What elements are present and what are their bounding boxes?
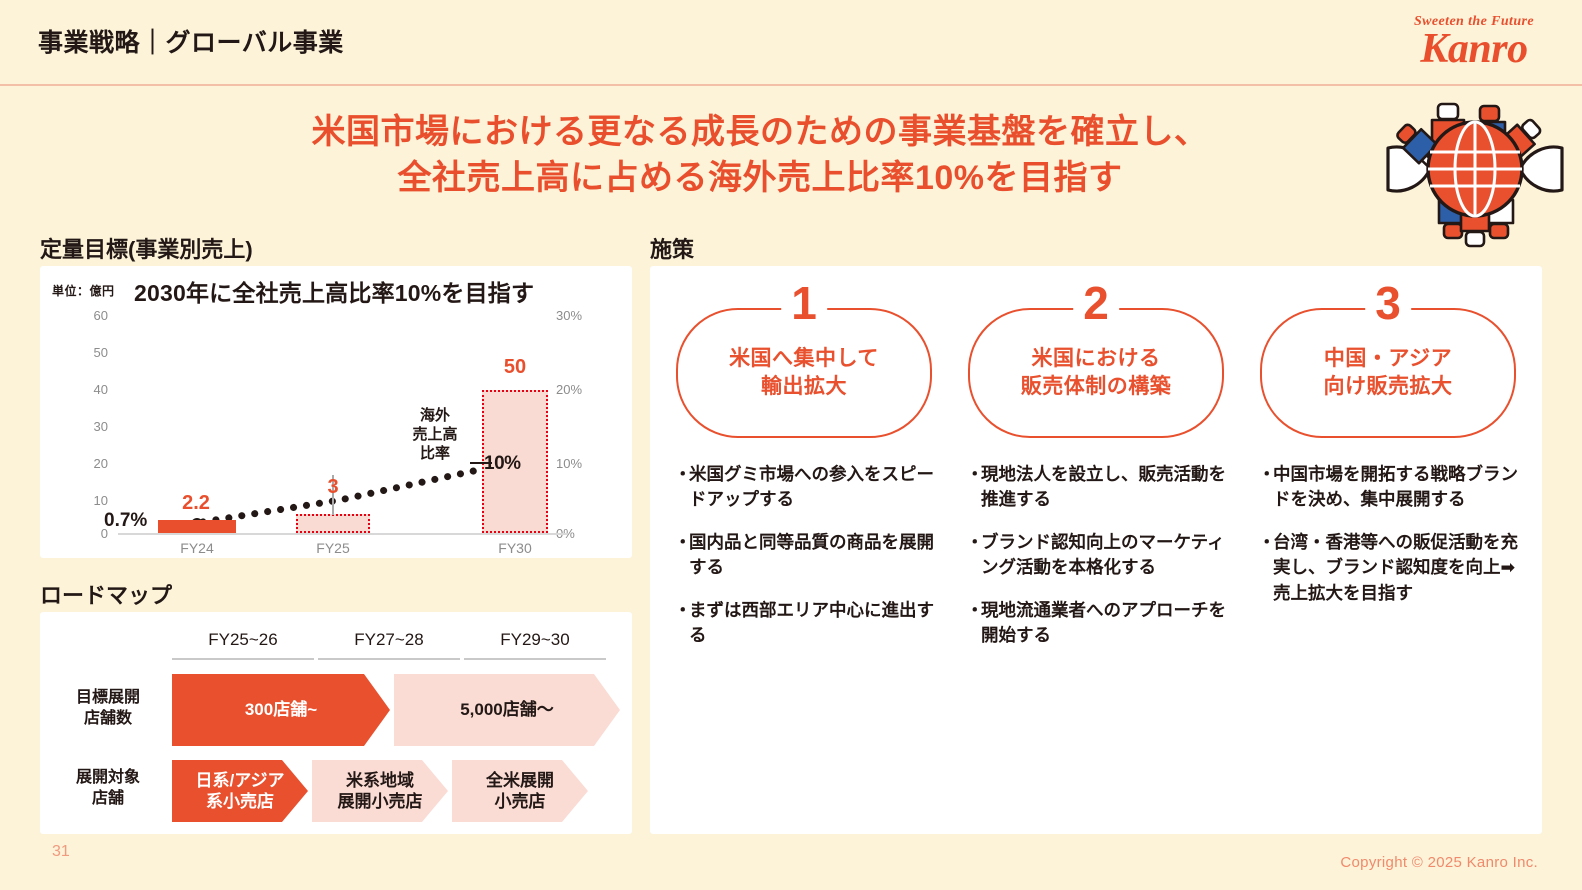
plan-bullet-text: 米国グミ市場への参入をスピードアップする (689, 462, 942, 513)
roadmap-cell-japan-asia-retail-line-1: 日系/アジア (195, 771, 284, 790)
plan-card: 1 米国へ集中して 輸出拡大 ・ 米国グミ市場への参入をスピードアップする ・ … (650, 266, 1542, 834)
headline-line-1: 米国市場における更なる成長のための事業基盤を確立し、 (200, 110, 1320, 156)
roadmap-cell-japan-asia-retail-line-2: 系小売店 (206, 792, 274, 811)
plan-bullet-text: ブランド認知向上のマーケティング活動を本格化する (981, 530, 1234, 581)
roadmap-phase-1: FY25~26 (168, 630, 318, 650)
plan-bullet-text: 中国市場を開拓する戦略ブランドを決め、集中展開する (1273, 462, 1526, 513)
roadmap-phase-3-underline (464, 658, 606, 660)
x-tick-fy25: FY25 (288, 540, 378, 556)
section-label-roadmap: ロードマップ (40, 578, 172, 610)
roadmap-cell-nationwide-retail-line-1: 全米展開 (486, 771, 554, 790)
roadmap-cell-nationwide-retail-line-2: 小売店 (495, 792, 546, 811)
chart-card: 単位：億円 2030年に全社売上高比率10%を目指す 60 50 40 30 2… (40, 266, 632, 558)
bullet-marker-icon: ・ (966, 598, 981, 649)
roadmap-cell-nationwide-retail: 全米展開 小売店 (452, 760, 588, 822)
logo-wordmark: Kanro (1414, 30, 1534, 70)
roadmap-row-label-stores: 目標展開 店舗数 (48, 688, 168, 730)
plan-bullet-text: 台湾・香港等への販促活動を充実し、ブランド認知度を向上➡売上拡大を目指す (1273, 530, 1526, 606)
bullet-marker-icon: ・ (966, 462, 981, 513)
roadmap-phase-2: FY27~28 (314, 630, 464, 650)
list-item: ・ 中国市場を開拓する戦略ブランドを決め、集中展開する (1258, 462, 1526, 513)
ratio-annotation-line-2: 売上高 (392, 426, 478, 445)
roadmap-cell-300-stores: 300店舗~ (172, 674, 390, 746)
section-label-kpi: 定量目標(事業別売上) (40, 232, 253, 264)
roadmap-cell-us-regional-retail: 米系地域 展開小売店 (312, 760, 448, 822)
plan-number-2: 2 (1073, 280, 1119, 326)
roadmap-phase-3: FY29~30 (460, 630, 610, 650)
copyright-notice: Copyright © 2025 Kanro Inc. (1340, 854, 1538, 871)
plan-title-1-line-2: 輸出拡大 (761, 375, 847, 398)
bullet-marker-icon: ・ (674, 530, 689, 581)
plan-number-1: 1 (781, 280, 827, 326)
x-tick-fy30: FY30 (470, 540, 560, 556)
plan-title-2-line-2: 販売体制の構築 (1021, 375, 1172, 398)
plan-title-3-line-2: 向け販売拡大 (1324, 375, 1453, 398)
bar-value-fy25: 3 (288, 476, 378, 499)
ratio-annotation-line-3: 比率 (392, 445, 478, 464)
bar-value-fy24: 2.2 (151, 492, 241, 515)
plan-column-2: 2 米国における 販売体制の構築 ・ 現地法人を設立し、販売活動を推進する ・ … (952, 266, 1240, 834)
roadmap-row-label-stores-line-1: 目標展開 (48, 688, 168, 709)
chart-unit-note: 単位：億円 (52, 282, 115, 299)
roadmap-cell-5000-stores: 5,000店舗〜 (394, 674, 620, 746)
plan-bullet-text: 国内品と同等品質の商品を展開する (689, 530, 942, 581)
bar-value-fy30: 50 (470, 356, 560, 379)
list-item: ・ 現地法人を設立し、販売活動を推進する (966, 462, 1234, 513)
list-item: ・ 台湾・香港等への販促活動を充実し、ブランド認知度を向上➡売上拡大を目指す (1258, 530, 1526, 606)
plan-title-2-line-1: 米国における (1032, 347, 1161, 370)
roadmap-row-label-stores-line-2: 店舗数 (48, 709, 168, 730)
plan-bullets-3: ・ 中国市場を開拓する戦略ブランドを決め、集中展開する ・ 台湾・香港等への販促… (1258, 462, 1526, 623)
plan-bullet-text: 現地流通業者へのアプローチを開始する (981, 598, 1234, 649)
roadmap-row-label-targets: 展開対象 店舗 (48, 768, 168, 810)
section-label-plan: 施策 (650, 232, 694, 264)
plan-bullets-2: ・ 現地法人を設立し、販売活動を推進する ・ ブランド認知向上のマーケティング活… (966, 462, 1234, 665)
bullet-marker-icon: ・ (1258, 530, 1273, 606)
list-item: ・ ブランド認知向上のマーケティング活動を本格化する (966, 530, 1234, 581)
roadmap-cell-japan-asia-retail: 日系/アジア 系小売店 (172, 760, 308, 822)
plan-number-3: 3 (1365, 280, 1411, 326)
roadmap-row-label-targets-line-2: 店舗 (48, 789, 168, 810)
header-divider (0, 84, 1582, 86)
roadmap-cell-us-regional-retail-line-1: 米系地域 (346, 771, 414, 790)
plan-bullet-text: まずは西部エリア中心に進出する (689, 598, 942, 649)
slide: 事業戦略｜グローバル事業 Sweeten the Future Kanro 米国… (0, 0, 1582, 890)
chart-title: 2030年に全社売上高比率10%を目指す (134, 274, 534, 308)
chart-plot-area: 60 50 40 30 20 10 0 30% 20% 10% 0% (40, 310, 632, 558)
kanro-logo: Sweeten the Future Kanro (1414, 14, 1534, 70)
headline-line-2: 全社売上高に占める海外売上比率10%を目指す (200, 156, 1320, 202)
list-item: ・ 米国グミ市場への参入をスピードアップする (674, 462, 942, 513)
list-item: ・ 国内品と同等品質の商品を展開する (674, 530, 942, 581)
ratio-label-fy30: 10% (484, 453, 521, 475)
bullet-marker-icon: ・ (966, 530, 981, 581)
list-item: ・ 現地流通業者へのアプローチを開始する (966, 598, 1234, 649)
ratio-label-fy24: 0.7% (104, 510, 147, 532)
globe-candy-illustration (1382, 86, 1568, 252)
chart-baseline (118, 533, 568, 535)
plan-bullet-text: 現地法人を設立し、販売活動を推進する (981, 462, 1234, 513)
page-title: 事業戦略｜グローバル事業 (38, 23, 344, 59)
roadmap-row-label-targets-line-1: 展開対象 (48, 768, 168, 789)
bullet-marker-icon: ・ (1258, 462, 1273, 513)
roadmap-phase-2-underline (318, 658, 460, 660)
bar-fy24 (158, 520, 236, 533)
headline: 米国市場における更なる成長のための事業基盤を確立し、 全社売上高に占める海外売上… (200, 110, 1320, 202)
ratio-annotation-line-1: 海外 (392, 407, 478, 426)
ratio-annotation: 海外 売上高 比率 (392, 407, 478, 463)
roadmap-phase-1-underline (172, 658, 314, 660)
x-tick-fy24: FY24 (152, 540, 242, 556)
roadmap-cell-us-regional-retail-line-2: 展開小売店 (338, 792, 423, 811)
plan-column-3: 3 中国・アジア 向け販売拡大 ・ 中国市場を開拓する戦略ブランドを決め、集中展… (1244, 266, 1532, 834)
roadmap-card: FY25~26 FY27~28 FY29~30 目標展開 店舗数 300店舗~ … (40, 612, 632, 834)
bar-fy25 (296, 514, 370, 533)
list-item: ・ まずは西部エリア中心に進出する (674, 598, 942, 649)
page-number: 31 (52, 843, 70, 861)
bullet-marker-icon: ・ (674, 598, 689, 649)
plan-title-3-line-1: 中国・アジア (1324, 347, 1452, 370)
plan-column-1: 1 米国へ集中して 輸出拡大 ・ 米国グミ市場への参入をスピードアップする ・ … (660, 266, 948, 834)
plan-title-1-line-1: 米国へ集中して (729, 347, 879, 370)
bullet-marker-icon: ・ (674, 462, 689, 513)
plan-bullets-1: ・ 米国グミ市場への参入をスピードアップする ・ 国内品と同等品質の商品を展開す… (674, 462, 942, 665)
